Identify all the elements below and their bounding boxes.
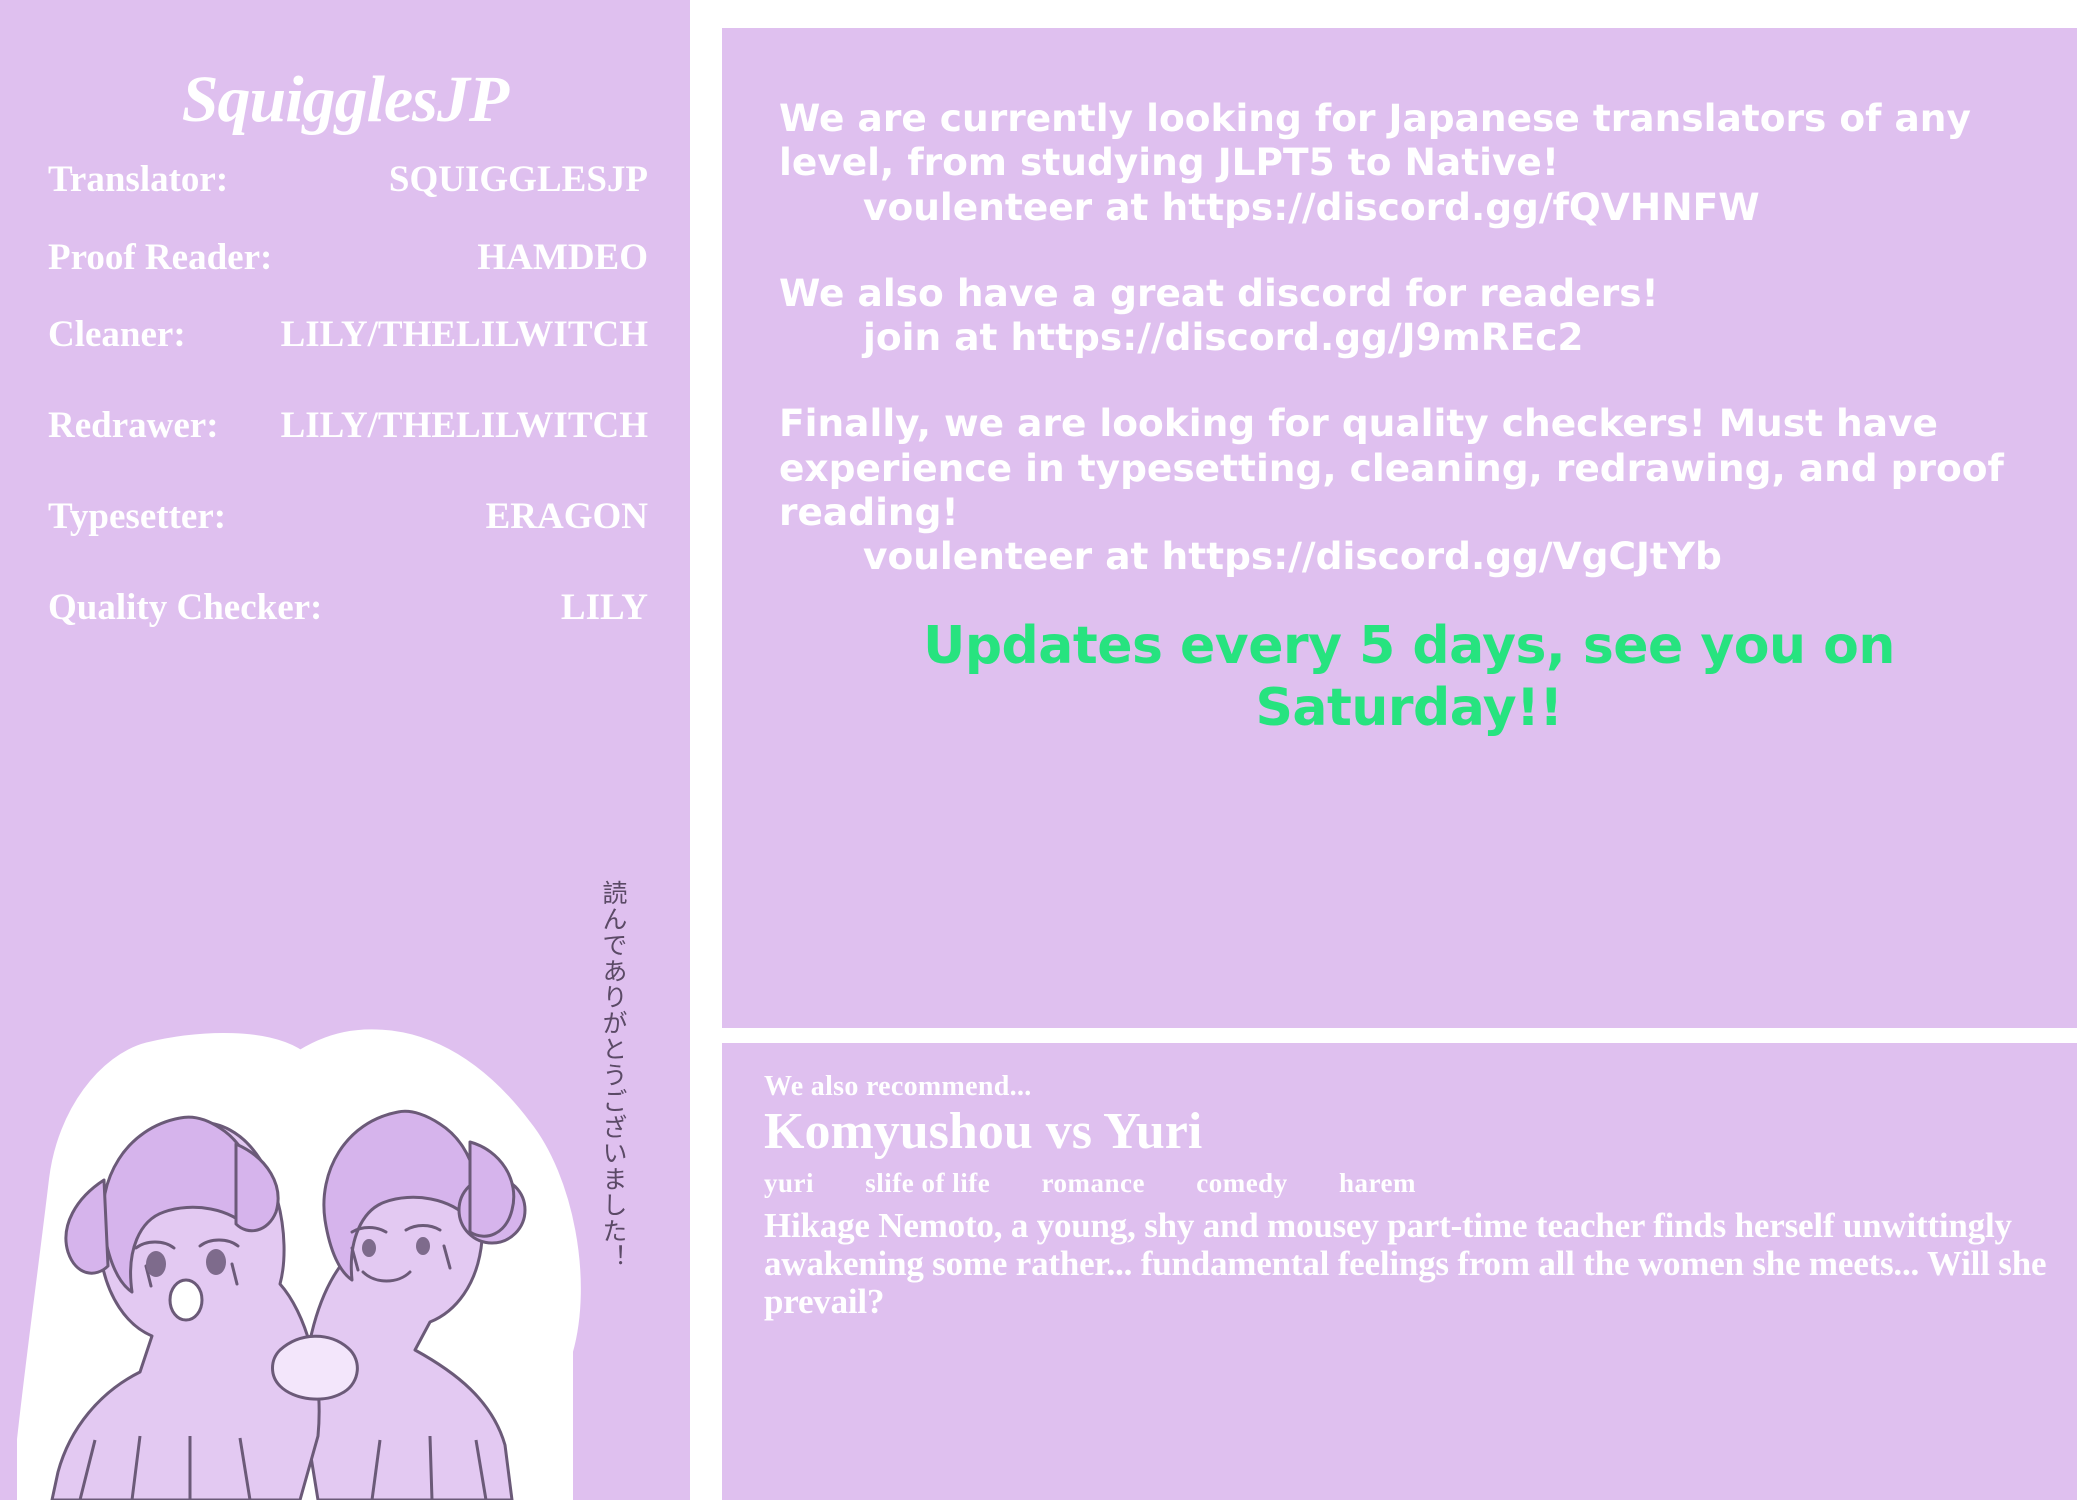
credit-role-label: Quality Checker: (48, 586, 322, 629)
credit-role-label: Translator: (48, 158, 228, 201)
credit-role-label: Proof Reader: (48, 236, 272, 279)
recommendation-panel: We also recommend... Komyushou vs Yuri y… (722, 1043, 2077, 1500)
recommended-series-tags: yuri slife of life romance comedy harem (764, 1168, 2054, 1199)
spacer (779, 359, 2039, 401)
recruitment-text-block: We are currently looking for Japanese tr… (779, 96, 2039, 739)
two-girls-illustration (0, 880, 690, 1500)
update-schedule-text: Updates every 5 days, see you on Saturda… (779, 616, 2039, 739)
quality-checker-discord-link[interactable]: voulenteer at https://discord.gg/VgCJtYb (779, 534, 2039, 578)
tag-yuri[interactable]: yuri (764, 1168, 814, 1198)
tag-comedy[interactable]: comedy (1196, 1168, 1287, 1198)
credit-role-label: Redrawer: (48, 404, 219, 447)
reader-discord-link[interactable]: join at https://discord.gg/J9mREc2 (779, 315, 2039, 359)
credit-role-label: Cleaner: (48, 313, 186, 356)
reader-discord-line: We also have a great discord for readers… (779, 271, 2039, 315)
recommendation-content: We also recommend... Komyushou vs Yuri y… (764, 1071, 2054, 1321)
credit-role-label: Typesetter: (48, 495, 226, 538)
spacer (779, 229, 2039, 271)
credit-name-value: HAMDEO (477, 236, 648, 279)
credit-name-value: LILY/THELILWITCH (281, 404, 648, 447)
recommendation-intro: We also recommend... (764, 1071, 2054, 1103)
tag-harem[interactable]: harem (1339, 1168, 1416, 1198)
recommended-series-title[interactable]: Komyushou vs Yuri (764, 1105, 2054, 1160)
recruitment-panel: We are currently looking for Japanese tr… (722, 28, 2077, 1028)
credit-name-value: SQUIGGLESJP (389, 158, 648, 201)
credits-panel: SquigglesJP Translator: SQUIGGLESJP Proo… (0, 0, 690, 1500)
scanlation-group-logo: SquigglesJP (0, 62, 690, 138)
credit-name-value: LILY (561, 586, 648, 629)
tag-slice-of-life[interactable]: slife of life (865, 1168, 990, 1198)
credit-name-value: LILY/THELILWITCH (281, 313, 648, 356)
tag-romance[interactable]: romance (1041, 1168, 1144, 1198)
quality-checker-recruitment-line: Finally, we are looking for quality chec… (779, 401, 2039, 534)
recommended-series-description: Hikage Nemoto, a young, shy and mousey p… (764, 1207, 2054, 1321)
translator-discord-link[interactable]: voulenteer at https://discord.gg/fQVHNFW (779, 185, 2039, 229)
credit-name-value: ERAGON (486, 495, 648, 538)
translator-recruitment-line: We are currently looking for Japanese tr… (779, 96, 2039, 185)
